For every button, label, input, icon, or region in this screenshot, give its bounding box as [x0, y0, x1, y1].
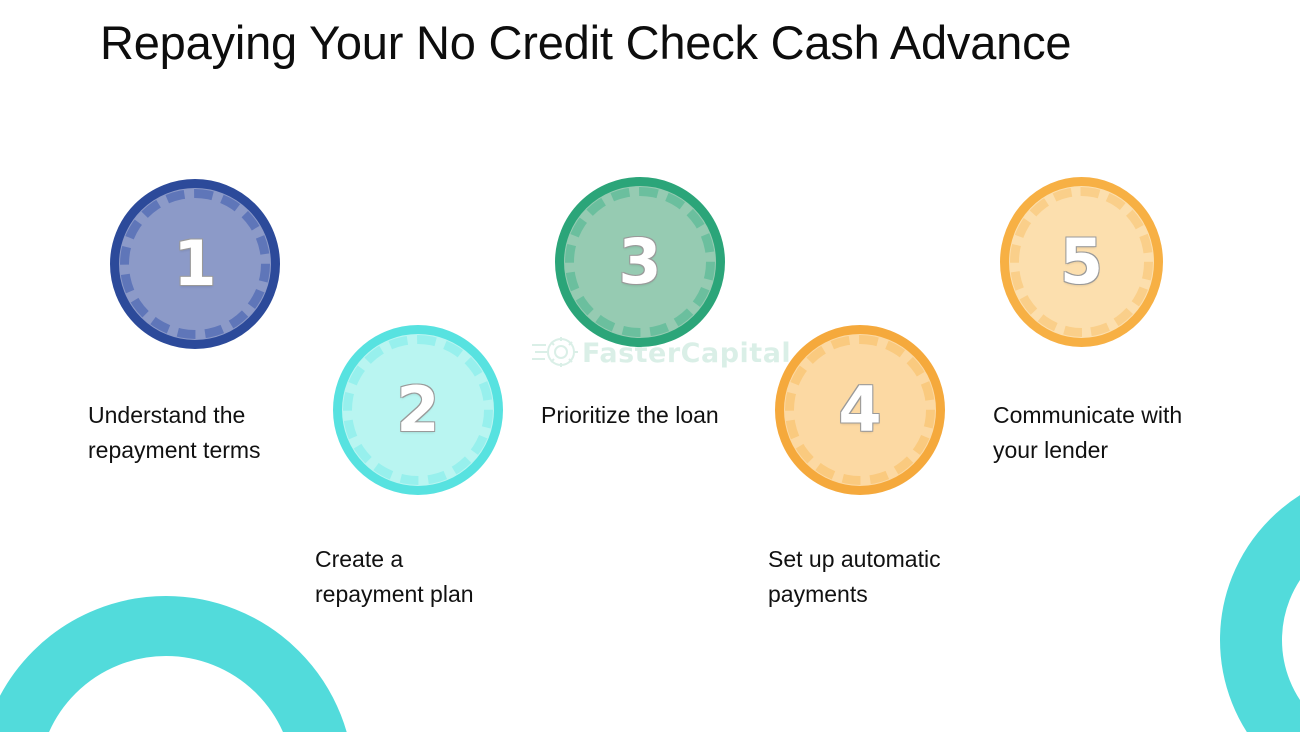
step-label-3: Prioritize the loan: [541, 398, 741, 433]
step-circle-5: 5: [1000, 177, 1163, 347]
step-label-1: Understand the repayment terms: [88, 398, 263, 468]
step-label-5: Communicate with your lender: [993, 398, 1183, 468]
watermark-text: FasterCapital: [582, 340, 791, 367]
step-circle-4: 4: [775, 325, 945, 495]
gear-icon: [532, 335, 578, 371]
page-title: Repaying Your No Credit Check Cash Advan…: [100, 14, 1220, 72]
step-label-4: Set up automatic payments: [768, 542, 953, 612]
step-number-3: 3: [618, 231, 661, 293]
step-circle-3: 3: [555, 177, 725, 347]
decorative-ring-right: [1220, 469, 1300, 732]
infographic-canvas: Repaying Your No Credit Check Cash Advan…: [0, 0, 1300, 732]
step-circle-1: 1: [110, 179, 280, 349]
step-number-4: 4: [838, 379, 881, 441]
step-label-2: Create a repayment plan: [315, 542, 495, 612]
decorative-ring-bottom-left: [0, 596, 354, 732]
step-number-1: 1: [173, 233, 216, 295]
step-number-5: 5: [1060, 231, 1103, 293]
step-number-2: 2: [396, 379, 439, 441]
step-circle-2: 2: [333, 325, 503, 495]
